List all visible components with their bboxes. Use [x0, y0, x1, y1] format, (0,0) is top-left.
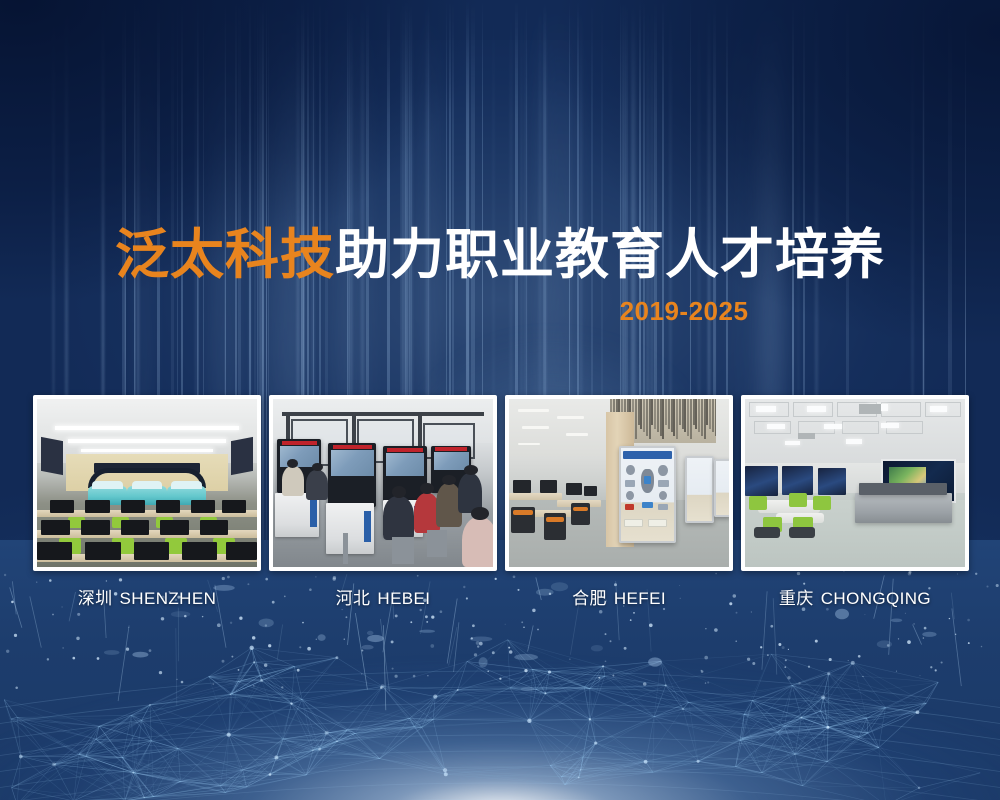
gallery-photo-shenzhen[interactable] — [33, 395, 261, 571]
caption-en-shenzhen: SHENZHEN — [120, 589, 217, 608]
gallery-photo-chongqing[interactable] — [741, 395, 969, 571]
photo-image-chongqing — [745, 399, 965, 567]
title-highlight: 泛太科技 — [115, 225, 335, 285]
promo-banner: 泛太科技助力职业教育人才培养 2019-2025 — [0, 0, 1000, 800]
caption-en-chongqing: CHONGQING — [821, 589, 931, 608]
page-title: 泛太科技助力职业教育人才培养 — [0, 228, 1000, 282]
caption-cn-hefei: 合肥 — [572, 589, 607, 608]
photo-image-hebei — [273, 399, 493, 567]
gallery-photo-hefei[interactable] — [505, 395, 733, 571]
caption-chongqing: 重庆CHONGQING — [741, 584, 969, 609]
caption-cn-chongqing: 重庆 — [779, 589, 814, 608]
caption-hefei: 合肥HEFEI — [505, 584, 733, 609]
photo-gallery — [33, 395, 969, 571]
subtitle-row: 2019-2025 — [0, 296, 1000, 327]
date-range-label: 2019-2025 — [620, 296, 749, 327]
caption-en-hefei: HEFEI — [614, 589, 666, 608]
caption-cn-shenzhen: 深圳 — [78, 589, 113, 608]
gallery-photo-hebei[interactable] — [269, 395, 497, 571]
photo-image-shenzhen — [37, 399, 257, 567]
caption-cn-hebei: 河北 — [336, 589, 371, 608]
caption-shenzhen: 深圳SHENZHEN — [33, 584, 261, 609]
caption-en-hebei: HEBEI — [377, 589, 430, 608]
caption-hebei: 河北HEBEI — [269, 584, 497, 609]
photo-captions: 深圳SHENZHEN 河北HEBEI 合肥HEFEI 重庆CHONGQING — [33, 584, 969, 609]
photo-image-hefei — [509, 399, 729, 567]
title-rest: 助力职业教育人才培养 — [335, 225, 885, 285]
title-block: 泛太科技助力职业教育人才培养 2019-2025 — [0, 228, 1000, 327]
